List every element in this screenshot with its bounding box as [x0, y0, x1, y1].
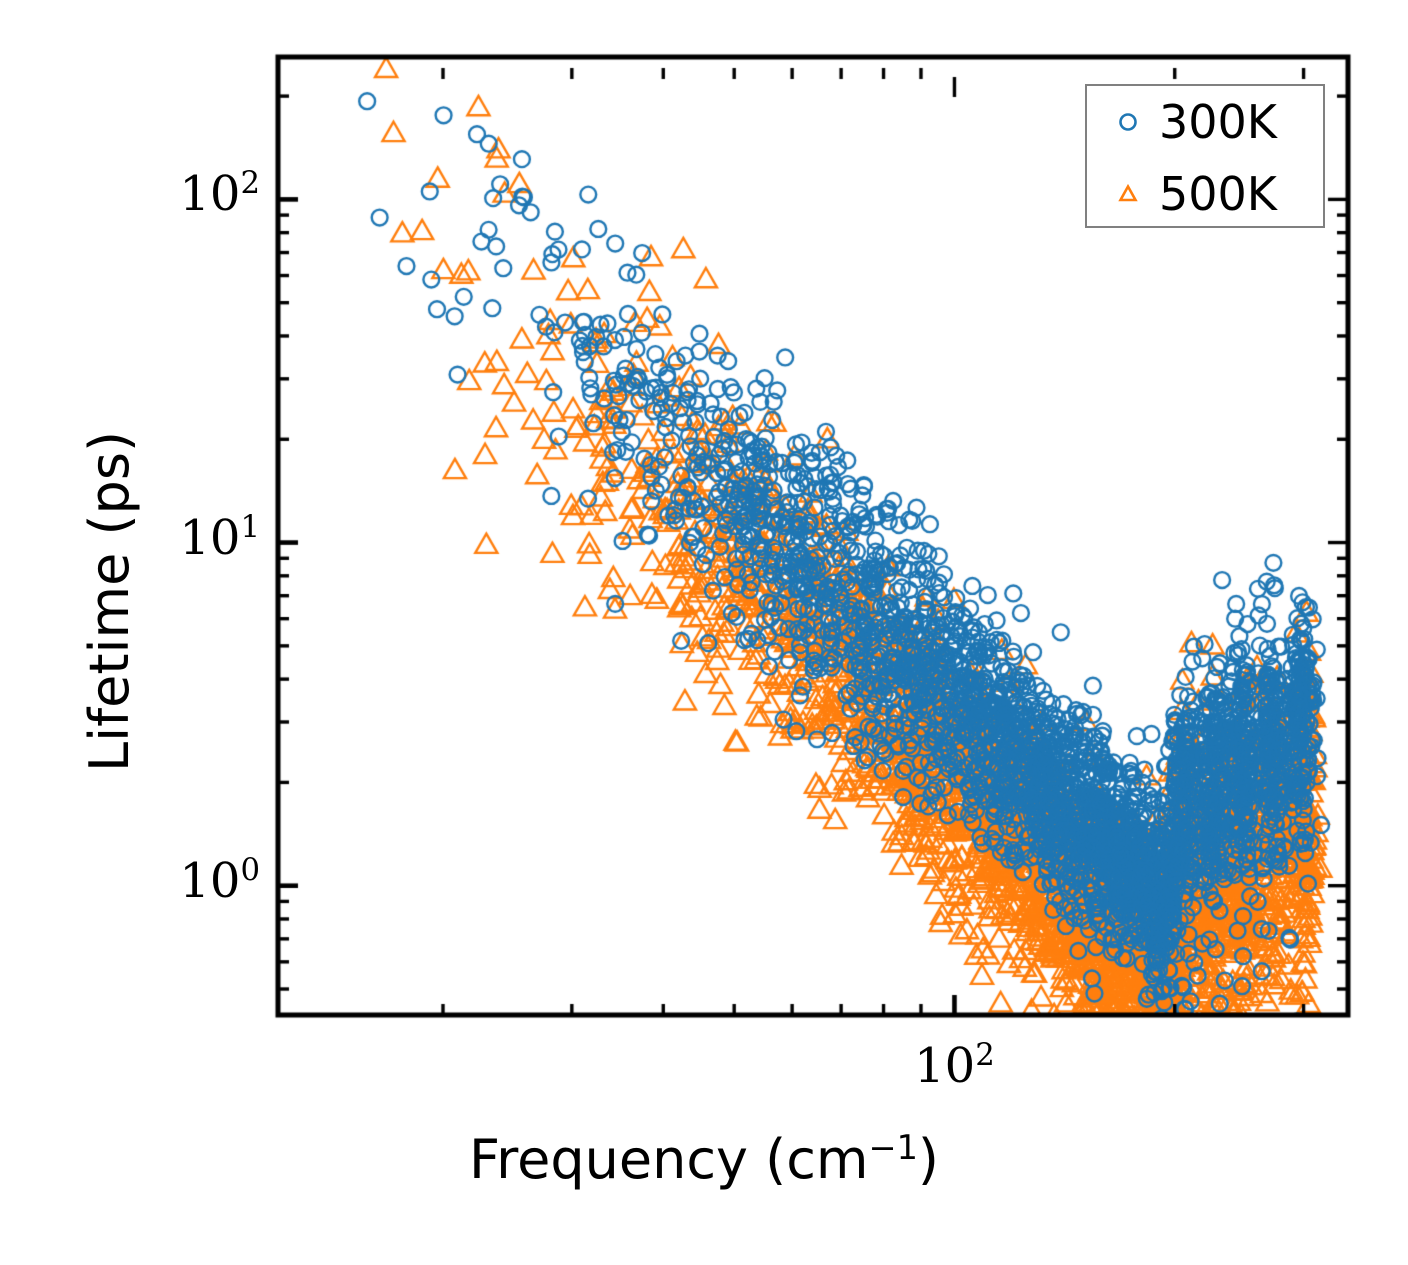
legend-entry-500k[interactable]: 500K — [1087, 158, 1327, 230]
legend-label-300k: 300K — [1159, 95, 1277, 149]
figure: 102 101 100 102 Frequency (cm−1) Lifetim… — [0, 0, 1408, 1265]
x-axis-title: Frequency (cm−1) — [0, 1128, 1408, 1191]
legend-marker-triangle-icon — [1117, 183, 1139, 205]
y-axis-title: Lifetime (ps) — [78, 431, 141, 772]
y-tick-label-1: 100 — [0, 852, 260, 909]
x-axis-title-tail: ) — [918, 1128, 939, 1191]
x-axis-title-exponent: −1 — [869, 1128, 918, 1167]
legend[interactable]: 300K 500K — [1085, 84, 1325, 228]
y-tick-label-100: 102 — [0, 165, 260, 222]
x-tick-label-100: 102 — [844, 1037, 1064, 1094]
legend-label-500k: 500K — [1159, 167, 1277, 221]
legend-entry-300k[interactable]: 300K — [1087, 86, 1327, 158]
legend-marker-circle-icon — [1117, 111, 1139, 133]
x-axis-title-text: Frequency (cm — [469, 1128, 869, 1191]
